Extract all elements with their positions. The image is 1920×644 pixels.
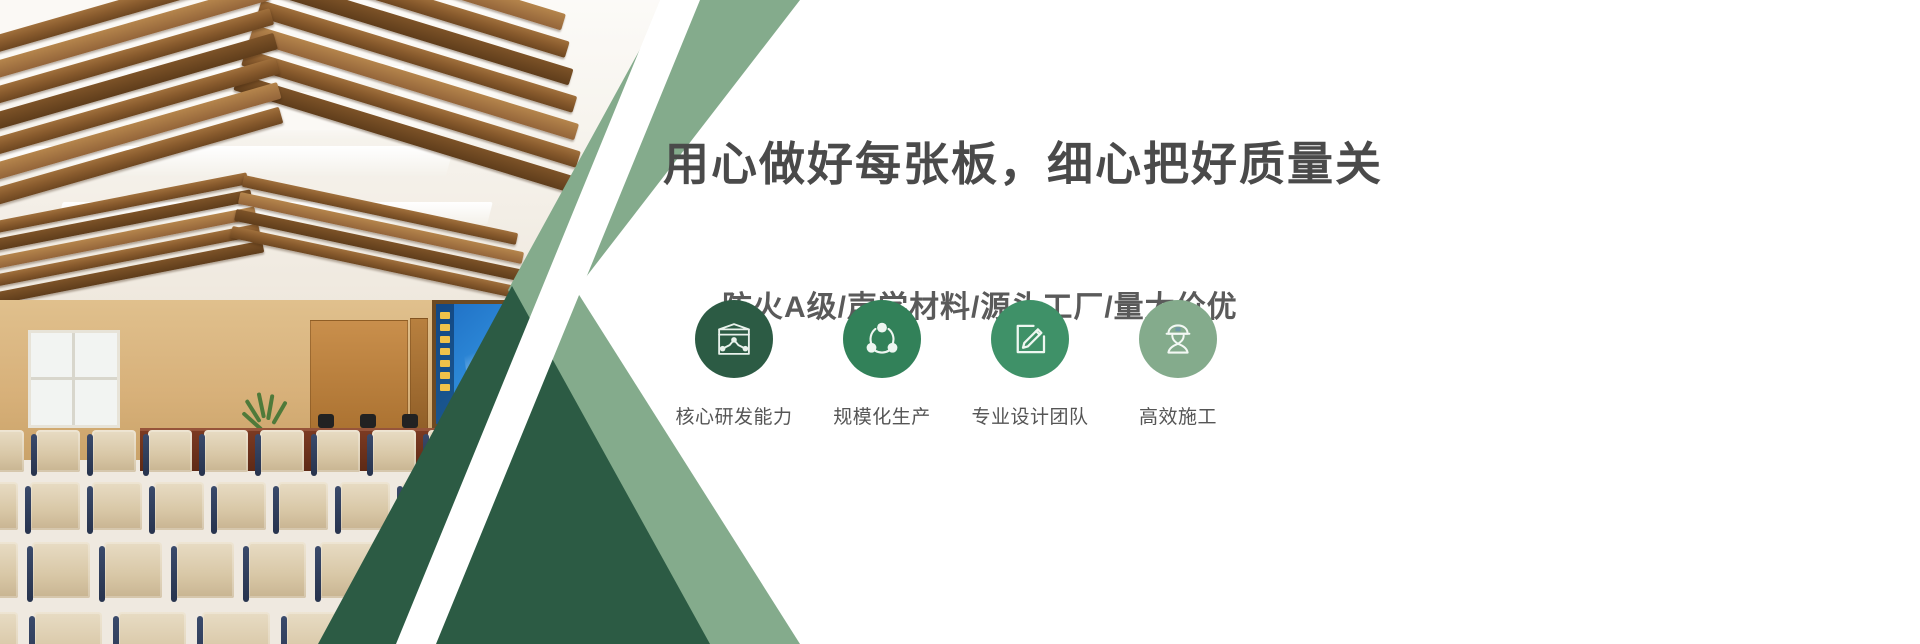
feature-label: 专业设计团队 bbox=[971, 402, 1088, 429]
feature-label: 规模化生产 bbox=[833, 402, 931, 429]
banner-content: 用心做好每张板，细心把好质量关 防火A级/声学材料/源头工厂/量大价优 bbox=[0, 0, 1920, 644]
rd-box-chart-icon bbox=[713, 318, 755, 360]
feature-item-efficient-construction[interactable]: 高效施工 bbox=[1104, 300, 1252, 429]
hero-banner: 用心做好每张板，细心把好质量关 防火A级/声学材料/源头工厂/量大价优 bbox=[0, 0, 1920, 644]
feature-item-scale-production[interactable]: 规模化生产 bbox=[808, 300, 956, 429]
feature-item-core-rd[interactable]: 核心研发能力 bbox=[660, 300, 808, 429]
feature-label: 高效施工 bbox=[1139, 402, 1217, 429]
feature-icon-circle bbox=[695, 300, 773, 378]
network-nodes-icon bbox=[861, 318, 903, 360]
feature-icon-circle bbox=[1139, 300, 1217, 378]
hardhat-worker-icon bbox=[1157, 318, 1199, 360]
pencil-edit-square-icon bbox=[1009, 318, 1051, 360]
feature-label: 核心研发能力 bbox=[675, 402, 792, 429]
banner-headline: 用心做好每张板，细心把好质量关 bbox=[663, 128, 1383, 194]
feature-icon-circle bbox=[843, 300, 921, 378]
feature-icon-circle bbox=[991, 300, 1069, 378]
feature-list: 核心研发能力 规模化生产 bbox=[660, 300, 1252, 429]
feature-item-design-team[interactable]: 专业设计团队 bbox=[956, 300, 1104, 429]
